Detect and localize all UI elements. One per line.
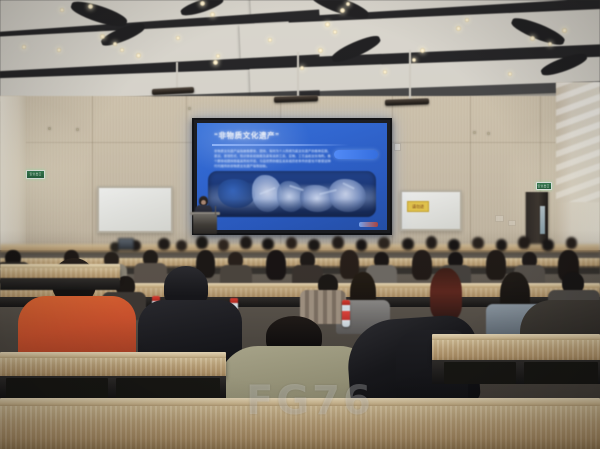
wall-speaker-mount — [76, 128, 79, 131]
exit-sign-left-label: 安全出口 — [30, 173, 42, 176]
right-wall-acoustic-panels — [556, 82, 600, 202]
water-bottle[interactable] — [342, 300, 350, 327]
exit-sign-right-label: 安全出口 — [538, 185, 550, 188]
ceiling-spotlight — [88, 4, 93, 9]
whiteboard-right: 请勿迹 — [400, 190, 462, 231]
projection-screen: “非物质文化遗产” 非物质文化遗产是指被各群体、团体、有时为个人所视为其文化遗产… — [192, 118, 392, 235]
wall-outlet[interactable] — [495, 215, 504, 222]
wall-outlet[interactable] — [508, 220, 516, 226]
wall-switch-plate[interactable] — [394, 143, 401, 151]
speaker-rod — [297, 52, 299, 98]
slide-logo-badge — [359, 222, 378, 227]
speaker-rod — [176, 62, 178, 90]
wall-speaker-mount — [487, 132, 490, 135]
slide-title-underline — [212, 144, 349, 146]
exit-sign-right: 安全出口 — [536, 182, 552, 190]
slide-title: “非物质文化遗产” — [214, 130, 279, 141]
wall-speaker-mount — [188, 107, 191, 110]
ceiling-spotlight — [100, 34, 105, 39]
slide-body-text: 非物质文化遗产是指被各群体、团体、有时为个人所视为其文化遗产的各种实践、表演、表… — [214, 149, 332, 169]
wall-speaker-mount — [48, 127, 51, 130]
whiteboard-left — [97, 186, 173, 233]
slide-photo — [208, 171, 375, 217]
wall-speaker-mount — [473, 131, 476, 134]
speaker-rod — [409, 50, 411, 100]
door-glass-panel — [540, 206, 545, 234]
slide-accent-shape — [334, 150, 378, 160]
presentation-slide: “非物质文化遗产” 非物质文化遗产是指被各群体、团体、有时为个人所视为其文化遗产… — [197, 123, 387, 230]
whiteboard-notice-sign: 请勿迹 — [407, 201, 429, 212]
bottle-label — [342, 311, 350, 320]
bottle-cap — [342, 300, 350, 305]
microphone-stand — [215, 206, 216, 215]
exit-sign-left: 安全出口 — [26, 170, 45, 179]
lectern — [193, 214, 217, 234]
whiteboard-notice-label: 请勿迹 — [412, 205, 424, 209]
lecture-hall-photo: 安全出口 安全出口 请勿迹 “非物质文化遗产” 非物质文化遗产是指被各群体、团体… — [0, 0, 600, 449]
